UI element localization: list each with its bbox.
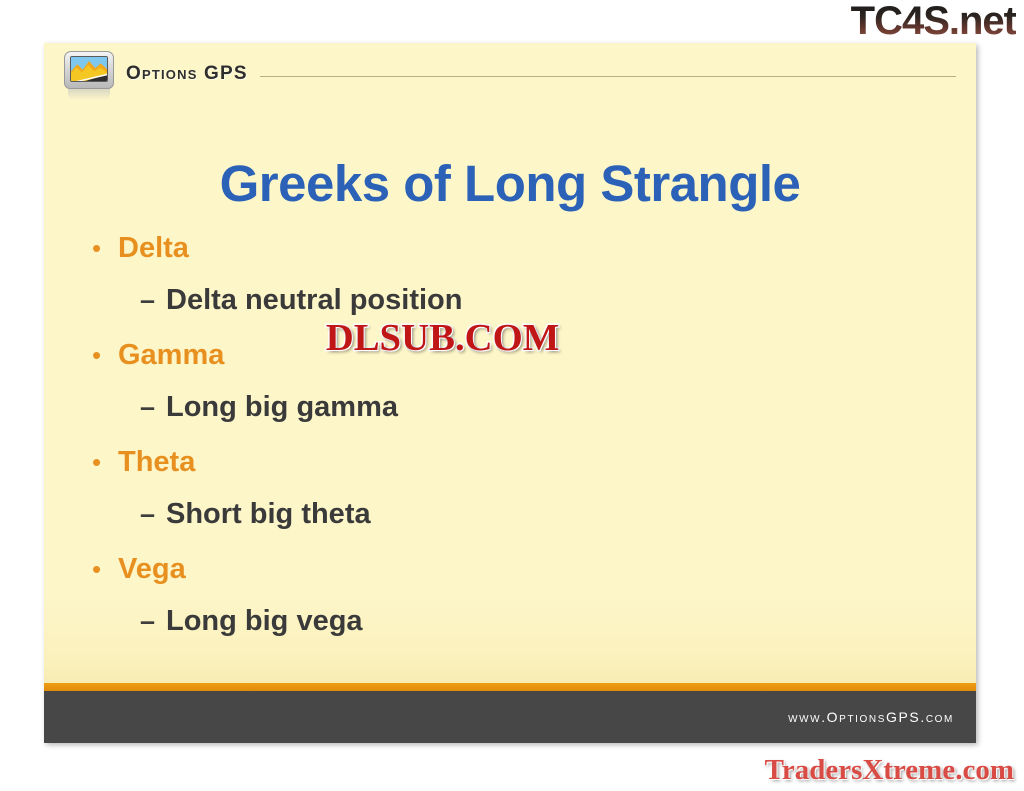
bullet-sub-label: Delta neutral position (166, 283, 462, 317)
list-item: • Delta (92, 231, 952, 283)
list-item: – Short big theta (92, 497, 952, 552)
logo-reflection (68, 89, 110, 100)
gps-screen-graphic (70, 56, 108, 82)
presentation-slide: Options GPS Greeks of Long Strangle • De… (44, 43, 976, 743)
bullet-dot-icon: • (92, 554, 118, 584)
slide-footer: www.OptionsGPS.com (44, 691, 976, 743)
bullet-list: • Delta – Delta neutral position • Gamma… (92, 231, 952, 659)
list-item: • Vega (92, 552, 952, 604)
page-title: Greeks of Long Strangle (44, 155, 976, 213)
dlsub-watermark: DLSUB.COM (326, 318, 560, 358)
bullet-dash-icon: – (140, 391, 166, 423)
footer-url-label: www.OptionsGPS.com (788, 709, 954, 725)
bullet-group-vega: • Vega – Long big vega (92, 552, 952, 659)
tc4s-brand-watermark: TC4S.net (851, 0, 1016, 42)
bullet-label: Delta (118, 231, 189, 265)
bullet-dot-icon: • (92, 340, 118, 370)
tradersxtreme-brand-watermark: TradersXtreme.com (765, 754, 1014, 786)
slide-header: Options GPS (44, 43, 976, 105)
bullet-sub-label: Long big vega (166, 604, 363, 638)
footer-accent-rule (44, 683, 976, 691)
bullet-dash-icon: – (140, 284, 166, 316)
list-item: – Long big vega (92, 604, 952, 659)
options-gps-logo (62, 48, 118, 100)
list-item: • Theta (92, 445, 952, 497)
bullet-dot-icon: • (92, 447, 118, 477)
bullet-label: Vega (118, 552, 186, 586)
bullet-sub-label: Long big gamma (166, 390, 398, 424)
bullet-dash-icon: – (140, 605, 166, 637)
options-gps-brand-label: Options GPS (126, 63, 248, 85)
bullet-dot-icon: • (92, 233, 118, 263)
header-divider (260, 76, 956, 77)
list-item: – Long big gamma (92, 390, 952, 445)
gps-device-icon (64, 51, 114, 89)
bullet-dash-icon: – (140, 498, 166, 530)
bullet-sub-label: Short big theta (166, 497, 371, 531)
bullet-group-theta: • Theta – Short big theta (92, 445, 952, 552)
bullet-label: Theta (118, 445, 195, 479)
bullet-label: Gamma (118, 338, 224, 372)
